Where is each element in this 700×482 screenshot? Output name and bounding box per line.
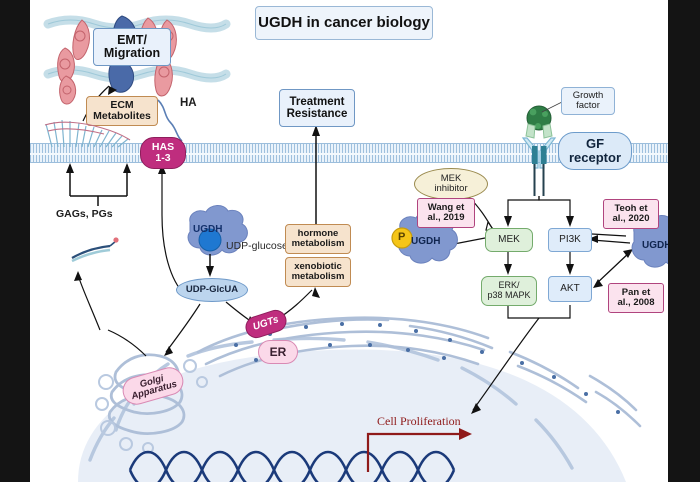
figure-canvas: UGDH in cancer biology [30,0,668,482]
dna-and-proliferation [30,0,668,482]
cell-proliferation-label: Cell Proliferation [377,414,461,429]
figure-root: UGDH in cancer biology [0,0,700,482]
cell-proliferation-text: Cell Proliferation [377,414,461,428]
